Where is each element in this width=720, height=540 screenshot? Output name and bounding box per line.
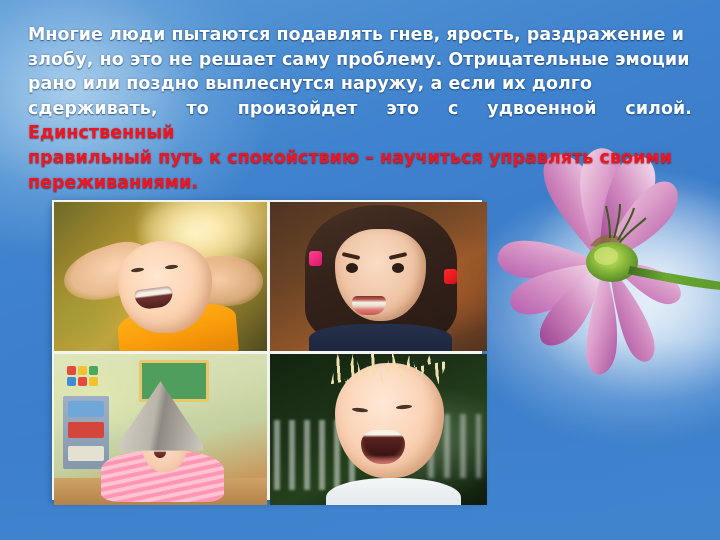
text-line-5: правильный путь к спокойствию – научитьс… <box>28 146 692 171</box>
text-line-4-white: сдерживать, то произойдет это с удвоенно… <box>28 99 692 119</box>
text-line-3: рано или поздно выплеснутся наружу, а ес… <box>28 72 692 97</box>
photo-happy-blonde-girl <box>54 202 267 351</box>
white-shirt <box>326 478 461 505</box>
classroom-board <box>139 360 209 402</box>
text-line-4: сдерживать, то произойдет это с удвоенно… <box>28 97 692 146</box>
text-line-4-red: Единственный <box>28 123 174 143</box>
text-line-6: переживаниями. <box>28 171 692 196</box>
photo-laughing-baby <box>270 354 487 505</box>
text-line-2: злобу, но это не решает саму проблему. О… <box>28 48 692 73</box>
toy-shelf <box>63 396 110 468</box>
emotions-photo-collage <box>52 200 482 500</box>
text-line-1: Многие люди пытаются подавлять гнев, яро… <box>28 23 692 48</box>
building-blocks <box>67 366 131 390</box>
hair-clip-pink <box>309 251 322 266</box>
laughing-mouth <box>361 430 405 464</box>
flower-petals-left <box>498 241 600 346</box>
photo-angry-girl <box>270 202 487 351</box>
slide-body-text: Многие люди пытаются подавлять гнев, яро… <box>28 23 692 195</box>
eye-right <box>392 263 404 273</box>
presentation-slide: Многие люди пытаются подавлять гнев, яро… <box>0 0 720 540</box>
photo-playful-girl-with-book <box>54 354 267 505</box>
navy-shirt <box>309 324 452 351</box>
hair-clip-red <box>444 269 457 284</box>
eye-left <box>346 263 358 273</box>
